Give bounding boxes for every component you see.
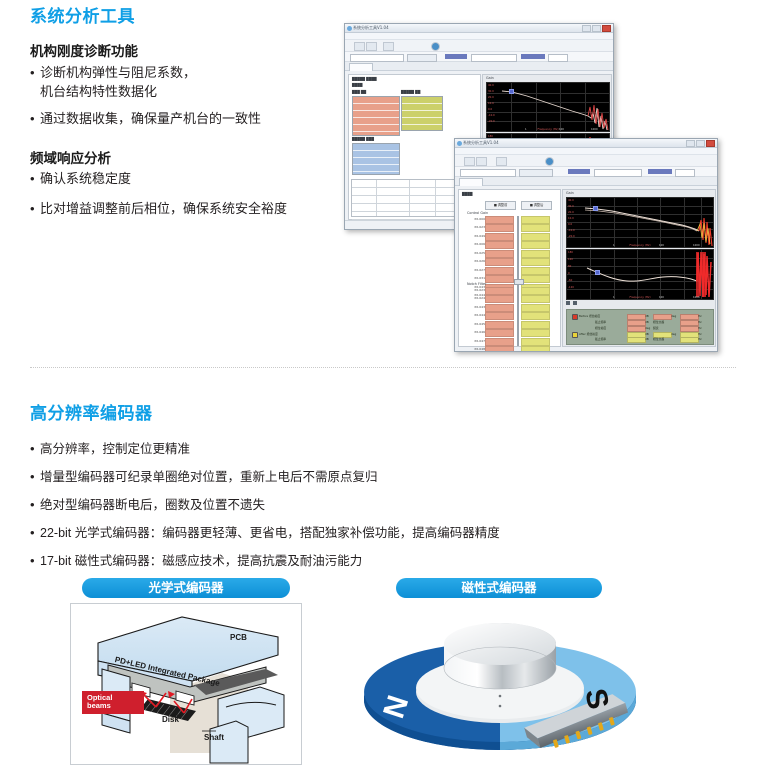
param-row[interactable] xyxy=(521,312,550,320)
window1-tabstrip[interactable] xyxy=(345,62,613,71)
window2-toolbar[interactable] xyxy=(455,155,717,167)
param-label: P2-031 xyxy=(474,276,485,280)
window2-tabstrip[interactable] xyxy=(455,177,717,186)
scan-mode-field[interactable] xyxy=(350,54,404,62)
toolbar-button-save[interactable] xyxy=(366,42,377,51)
label-after-cutoff: 截止频率 xyxy=(595,337,606,341)
bullet-dot: • xyxy=(30,496,40,515)
param-row[interactable]: P2-031 xyxy=(485,275,514,283)
unit-hz: Hz xyxy=(698,332,702,336)
param-label: P2-045 xyxy=(474,322,485,326)
label-disk: Disk xyxy=(162,715,179,724)
toolbar-button-export[interactable] xyxy=(383,42,394,51)
bullet-dot: • xyxy=(30,468,40,487)
pill-magnetic-encoder: 磁性式编码器 xyxy=(396,578,602,598)
subheading-mechanism-stiffness: 机构刚度诊断功能 xyxy=(30,40,138,60)
gain-chart[interactable]: 40.0 30.0 20.0 10.0 0.0 -10.0 -20.0 1 10… xyxy=(486,82,610,132)
param-label: P2-044 xyxy=(474,313,485,317)
toolbar-button-export[interactable] xyxy=(496,157,507,166)
grid-column-divider xyxy=(435,180,436,216)
software-screenshots-group: 系统分析工具V1.04 xyxy=(340,10,720,355)
status-title-before: Before 增益裕度 xyxy=(579,314,600,318)
phase-curve xyxy=(567,250,713,299)
window2-status-panel: Before 增益裕度 dB deg Hz 截止频率 dB 相位交越 Hz 相位… xyxy=(566,309,714,345)
label-before-freq: 频宽 xyxy=(653,326,659,330)
bullet-text: 增量型编码器可纪录单圈绝对位置，重新上电后不需原点复归 xyxy=(40,468,378,486)
callout-optical-beams: Optical beams xyxy=(82,691,144,714)
chart-x-caption: Frequency (Hz) xyxy=(629,295,650,299)
analysis-data-label xyxy=(445,54,467,59)
window1-toolbar[interactable] xyxy=(345,40,613,52)
grid-column-divider xyxy=(376,180,377,216)
table-row[interactable] xyxy=(402,118,442,125)
close-button[interactable] xyxy=(706,140,715,147)
after-cutoff-field[interactable] xyxy=(627,337,646,344)
label-before-cutoff: 截止频率 xyxy=(595,320,606,324)
transfer-slider-track[interactable] xyxy=(517,216,519,346)
table-row[interactable] xyxy=(353,172,399,179)
minimize-button[interactable] xyxy=(686,140,695,147)
param-label: P2-023 xyxy=(474,225,485,229)
window2-title: 系统分析工具V1.04 xyxy=(463,140,499,146)
param-row[interactable]: P2-024 xyxy=(485,295,514,303)
table-row[interactable] xyxy=(402,125,442,132)
param-row[interactable]: P2-026 xyxy=(485,258,514,266)
toolbar-button-open[interactable] xyxy=(354,42,365,51)
param-label: P2-006 xyxy=(474,242,485,246)
param-row[interactable]: P2-048 xyxy=(485,346,514,352)
column-header-after: ■ 调整后 xyxy=(521,201,552,210)
bullet-line-2: 机台结构特性数据化 xyxy=(40,83,196,102)
param-row[interactable] xyxy=(521,338,550,346)
table-row[interactable] xyxy=(353,165,399,172)
param-row[interactable] xyxy=(521,250,550,258)
param-row[interactable]: P2-027 xyxy=(485,267,514,275)
bullet-dot: • xyxy=(30,64,40,83)
chart-group-label: Gain xyxy=(486,76,494,80)
unit-hz: Hz xyxy=(698,337,702,341)
inertia-value-table[interactable] xyxy=(352,96,400,136)
legend-swatch[interactable] xyxy=(566,301,570,305)
param-row[interactable] xyxy=(521,267,550,275)
bullet-item: •绝对型编码器断电后，圈数及位置不遗失 xyxy=(30,496,265,515)
param-row[interactable]: P2-000 xyxy=(485,216,514,224)
table-row[interactable] xyxy=(353,111,399,118)
param-label: P2-000 xyxy=(474,217,485,221)
bullet-line-1: 通过数据收集，确保量产机台的一致性 xyxy=(40,110,261,129)
page-root: 系统分析工具 机构刚度诊断功能 • 诊断机构弹性与阻尼系数， 机台结构特性数据化… xyxy=(0,0,761,765)
maximize-button[interactable] xyxy=(592,25,601,32)
param-row[interactable] xyxy=(521,216,550,224)
chart-x-caption: Frequency (Hz) xyxy=(629,243,650,247)
bullet-text: 绝对型编码器断电后，圈数及位置不遗失 xyxy=(40,496,265,514)
label-pcb: PCB xyxy=(230,633,247,642)
param-row[interactable] xyxy=(521,287,550,295)
param-row[interactable]: P2-047 xyxy=(485,338,514,346)
bullet-item: •高分辨率，控制定位更精准 xyxy=(30,440,190,459)
section1-heading: 系统分析工具 xyxy=(30,2,135,27)
bullet-dot: • xyxy=(30,200,40,219)
callout-line-2: beams xyxy=(87,702,139,710)
bandwidth-label xyxy=(521,54,545,59)
unit-hz: Hz xyxy=(698,326,702,330)
chart-legend-toolbar[interactable] xyxy=(566,301,626,307)
chart-x-caption: Frequency (Hz) xyxy=(537,127,558,131)
param-row[interactable] xyxy=(521,321,550,329)
gain-curve xyxy=(487,83,609,131)
toolbar-button-help[interactable] xyxy=(431,42,440,51)
bullet-text: 22-bit 光学式编码器：编码器更轻薄、更省电，搭配独家补偿功能，提高编码器精… xyxy=(40,524,500,542)
bullet-item: •增量型编码器可纪录单圈绝对位置，重新上电后不需原点复归 xyxy=(30,468,378,487)
group-label-stiffness: ████ xyxy=(352,83,362,87)
status-led-after xyxy=(572,332,578,338)
param-row[interactable]: P2-046 xyxy=(485,329,514,337)
legend-swatch[interactable] xyxy=(573,301,577,305)
table-row[interactable] xyxy=(353,158,399,165)
param-row[interactable] xyxy=(521,224,550,232)
param-row[interactable] xyxy=(521,346,550,352)
param-label: P2-049 xyxy=(474,234,485,238)
bullet-item: •22-bit 光学式编码器：编码器更轻薄、更省电，搭配独家补偿功能，提高编码器… xyxy=(30,524,500,543)
unit-db: dB xyxy=(645,337,649,341)
param-label: P2-047 xyxy=(474,339,485,343)
pill-optical-encoder: 光学式编码器 xyxy=(82,578,290,598)
window2-right-panel: Gain 40.0 30.0 20.0 10.0 0.0 -10.0 -20.0 xyxy=(562,189,716,347)
window1-menubar[interactable] xyxy=(345,33,613,40)
table-row[interactable] xyxy=(353,125,399,132)
group-label-control-gain: Control Gain xyxy=(467,211,488,215)
param-column-before-notch[interactable]: P2-023 P2-024 P2-043 P2-044 P2-045 P2-04… xyxy=(485,287,514,352)
analysis-tool-window-2[interactable]: 系统分析工具V1.04 xyxy=(454,138,718,352)
param-row[interactable] xyxy=(521,275,550,283)
table-row[interactable] xyxy=(353,144,399,151)
unit-db: dB xyxy=(645,314,649,318)
param-label: P2-023 xyxy=(474,288,485,292)
param-row[interactable] xyxy=(521,304,550,312)
window2-config-row[interactable] xyxy=(455,167,717,177)
group-label-damping: █████ ███ xyxy=(352,137,374,141)
bullet-text: 高分辨率，控制定位更精准 xyxy=(40,440,190,458)
unit-deg: deg xyxy=(645,326,650,330)
maximize-button[interactable] xyxy=(696,140,705,147)
table-row[interactable] xyxy=(353,118,399,125)
bullet-item: •17-bit 磁性式编码器：磁感应技术，提高抗震及耐油污能力 xyxy=(30,552,362,571)
param-row[interactable] xyxy=(521,329,550,337)
bullet-item: •比对增益调整前后相位，确保系统安全裕度 xyxy=(30,200,287,219)
optical-encoder-figure: PCB PD+LED Integrated Package Disk Shaft… xyxy=(70,603,302,765)
table-row[interactable] xyxy=(353,151,399,158)
panel-caption: █████ ████ xyxy=(352,77,377,81)
table-row[interactable] xyxy=(402,111,442,118)
param-label: P2-046 xyxy=(474,330,485,334)
unit-hz: Hz xyxy=(698,320,702,324)
bandwidth-label xyxy=(648,169,672,174)
param-row[interactable] xyxy=(521,295,550,303)
label-before-crossover: 相位交越 xyxy=(653,320,664,324)
status-led-before xyxy=(572,314,578,320)
tab-bode[interactable] xyxy=(459,178,483,186)
section-divider xyxy=(30,367,736,368)
toolbar-button-help[interactable] xyxy=(545,157,554,166)
grid-column-divider xyxy=(409,180,410,216)
bullet-dot: • xyxy=(30,552,40,571)
bandwidth-select[interactable] xyxy=(548,54,568,62)
group-label-inertia: ███ ██ xyxy=(352,90,366,94)
table-row[interactable] xyxy=(353,97,399,104)
group-label-notch-filter: Notch Filter xyxy=(467,282,486,286)
window1-titlebar[interactable]: 系统分析工具V1.04 xyxy=(345,24,613,33)
param-label: P2-043 xyxy=(474,305,485,309)
cursor-marker[interactable] xyxy=(593,206,598,211)
label-before-phase: 相位裕度 xyxy=(595,326,606,330)
after-crossover-field[interactable] xyxy=(680,337,699,344)
window1-config-row[interactable] xyxy=(345,52,613,62)
label-after-crossover: 相位交越 xyxy=(653,337,664,341)
param-label: P2-024 xyxy=(474,296,485,300)
window2-menubar[interactable] xyxy=(455,148,717,155)
cursor-marker[interactable] xyxy=(595,270,600,275)
bullet-line-1: 诊断机构弹性与阻尼系数， xyxy=(40,65,196,80)
analysis-data-select[interactable] xyxy=(594,169,642,177)
unit-db: dB xyxy=(645,320,649,324)
panel-caption: ████ xyxy=(462,192,472,196)
tab-bode[interactable] xyxy=(349,63,373,71)
phase-chart[interactable]: 180 120 60 0 -60 -120 1 100 1000 xyxy=(566,249,714,300)
toolbar-button-save[interactable] xyxy=(476,157,487,166)
app-icon xyxy=(457,141,462,146)
toolbar-button-open[interactable] xyxy=(464,157,475,166)
table-row[interactable] xyxy=(402,97,442,104)
column-header-before: ■ 调整前 xyxy=(485,201,516,210)
param-row[interactable] xyxy=(521,241,550,249)
window1-title: 系统分析工具V1.04 xyxy=(353,25,389,31)
transfer-slider-thumb[interactable] xyxy=(514,279,524,285)
param-row[interactable]: P2-025 xyxy=(485,250,514,258)
table-row[interactable] xyxy=(353,104,399,111)
gain-curve xyxy=(567,198,713,247)
cursor-marker[interactable] xyxy=(509,89,514,94)
unit-deg: deg xyxy=(671,314,676,318)
param-column-after-notch[interactable] xyxy=(521,287,550,352)
close-button[interactable] xyxy=(602,25,611,32)
label-shaft: Shaft xyxy=(204,733,224,742)
bullet-item: •通过数据收集，确保量产机台的一致性 xyxy=(30,110,261,129)
analysis-data-label xyxy=(568,169,590,174)
elasticity-value-table[interactable] xyxy=(401,96,443,131)
param-row[interactable] xyxy=(521,258,550,266)
analysis-data-select[interactable] xyxy=(471,54,517,62)
status-title-after: After 增益裕度 xyxy=(579,332,598,336)
bullet-dot: • xyxy=(30,110,40,129)
minimize-button[interactable] xyxy=(582,25,591,32)
param-row[interactable] xyxy=(521,233,550,241)
damping-value-table[interactable] xyxy=(352,143,400,175)
window2-left-panel: ████ ■ 调整前 ■ 调整后 Control Gain P2-000 P2-… xyxy=(458,189,561,347)
param-row[interactable]: P2-023 xyxy=(485,287,514,295)
group-label-elasticity: █████ ██ xyxy=(401,90,420,94)
param-label: P2-048 xyxy=(474,347,485,351)
chart-group-label: Gain xyxy=(566,191,574,195)
bullet-dot: • xyxy=(30,524,40,543)
bullet-item: • 诊断机构弹性与阻尼系数， 机台结构特性数据化 xyxy=(30,64,196,102)
unit-hz: Hz xyxy=(698,314,702,318)
bullet-dot: • xyxy=(30,170,40,189)
param-row[interactable]: P2-044 xyxy=(485,312,514,320)
scan-mode-field[interactable] xyxy=(460,169,516,177)
gain-chart[interactable]: 40.0 30.0 20.0 10.0 0.0 -10.0 -20.0 1 xyxy=(566,197,714,248)
table-row[interactable] xyxy=(402,104,442,111)
bullet-item: •确认系统稳定度 xyxy=(30,170,131,189)
subheading-frequency-response: 频域响应分析 xyxy=(30,147,111,167)
param-label: P2-027 xyxy=(474,268,485,272)
param-row[interactable]: P2-045 xyxy=(485,321,514,329)
bandwidth-select[interactable] xyxy=(675,169,695,177)
run-button[interactable] xyxy=(519,169,553,177)
unit-deg: deg xyxy=(671,332,676,336)
param-row[interactable]: P2-006 xyxy=(485,241,514,249)
param-row[interactable]: P2-043 xyxy=(485,304,514,312)
param-row[interactable]: P2-023 xyxy=(485,224,514,232)
bullet-line-1: 确认系统稳定度 xyxy=(40,170,131,189)
param-row[interactable]: P2-049 xyxy=(485,233,514,241)
app-icon xyxy=(347,26,352,31)
optical-encoder-illustration xyxy=(70,603,302,765)
magnetic-encoder-illustration xyxy=(340,608,670,765)
section2-heading: 高分辨率编码器 xyxy=(30,399,153,424)
bullet-text: 17-bit 磁性式编码器：磁感应技术，提高抗震及耐油污能力 xyxy=(40,552,362,570)
window2-titlebar[interactable]: 系统分析工具V1.04 xyxy=(455,139,717,148)
run-button[interactable] xyxy=(407,54,437,62)
window-controls[interactable] xyxy=(582,25,611,32)
magnetic-encoder-figure: N S xyxy=(340,608,670,765)
unit-db: dB xyxy=(645,332,649,336)
bullet-line-1: 比对增益调整前后相位，确保系统安全裕度 xyxy=(40,200,287,219)
bullet-dot: • xyxy=(30,440,40,459)
param-label: P2-025 xyxy=(474,251,485,255)
window-controls[interactable] xyxy=(686,140,715,147)
param-label: P2-026 xyxy=(474,259,485,263)
